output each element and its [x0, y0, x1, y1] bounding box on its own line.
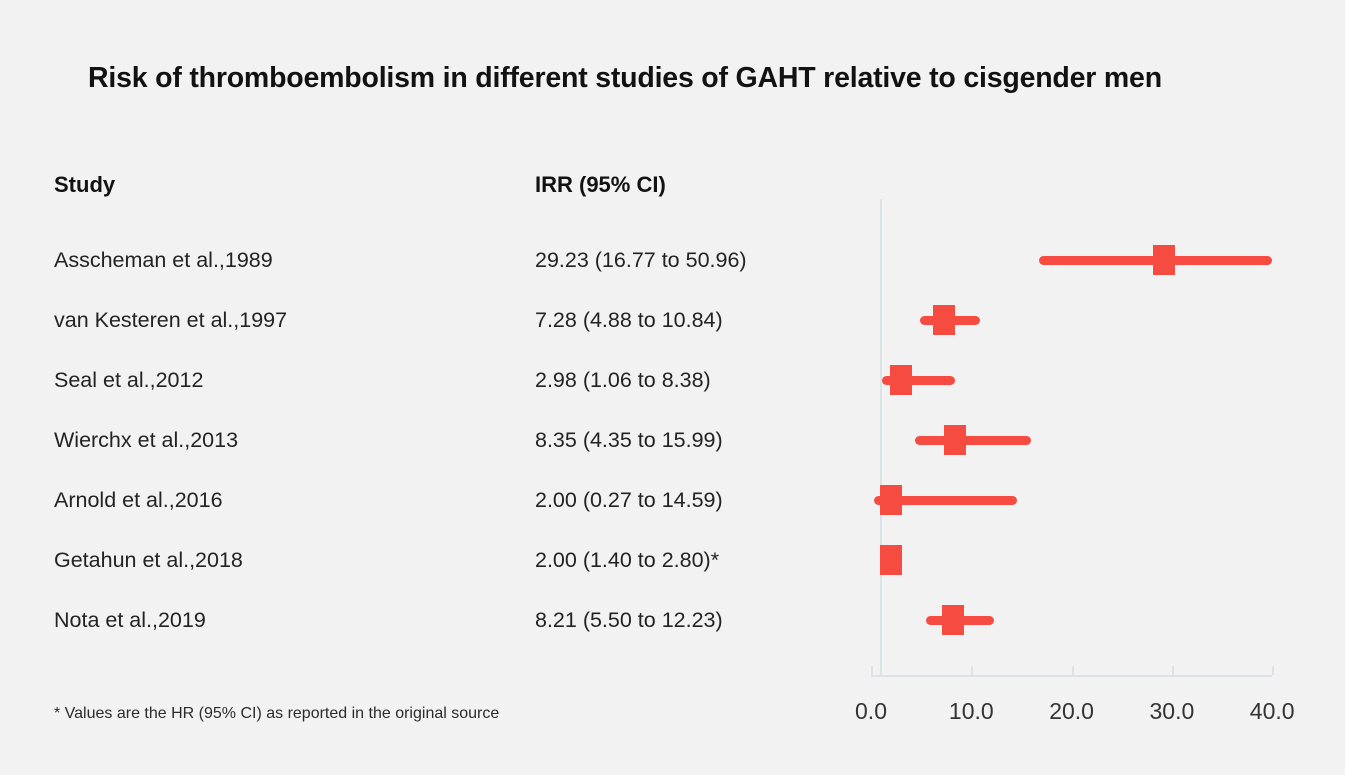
axis-end-cap — [871, 666, 873, 675]
irr-value: 8.21 (5.50 to 12.23) — [535, 590, 723, 650]
x-axis-tick — [1072, 666, 1074, 675]
x-axis-tick — [871, 666, 873, 675]
study-name: Nota et al.,2019 — [54, 590, 206, 650]
table-row: Arnold et al.,20162.00 (0.27 to 14.59) — [0, 470, 1345, 530]
irr-value: 2.98 (1.06 to 8.38) — [535, 350, 711, 410]
table-row: Seal et al.,20122.98 (1.06 to 8.38) — [0, 350, 1345, 410]
x-axis-tick-label: 30.0 — [1150, 698, 1195, 725]
irr-value: 29.23 (16.77 to 50.96) — [535, 230, 747, 290]
x-axis-line — [871, 675, 1272, 677]
study-name: Seal et al.,2012 — [54, 350, 203, 410]
study-name: Wierchx et al.,2013 — [54, 410, 238, 470]
irr-value: 7.28 (4.88 to 10.84) — [535, 290, 723, 350]
x-axis-tick-label: 10.0 — [949, 698, 994, 725]
irr-value: 8.35 (4.35 to 15.99) — [535, 410, 723, 470]
column-header-study: Study — [54, 172, 115, 198]
footnote: * Values are the HR (95% CI) as reported… — [54, 705, 499, 723]
column-header-irr: IRR (95% CI) — [535, 172, 666, 198]
study-name: Asscheman et al.,1989 — [54, 230, 273, 290]
axis-end-cap — [1272, 666, 1274, 675]
study-name: Arnold et al.,2016 — [54, 470, 223, 530]
table-row: Wierchx et al.,20138.35 (4.35 to 15.99) — [0, 410, 1345, 470]
study-name: Getahun et al.,2018 — [54, 530, 243, 590]
x-axis-tick-label: 20.0 — [1049, 698, 1094, 725]
table-row: Nota et al.,20198.21 (5.50 to 12.23) — [0, 590, 1345, 650]
study-name: van Kesteren et al.,1997 — [54, 290, 287, 350]
x-axis-tick — [1272, 666, 1274, 675]
table-row: van Kesteren et al.,19977.28 (4.88 to 10… — [0, 290, 1345, 350]
x-axis-tick — [1172, 666, 1174, 675]
irr-value: 2.00 (1.40 to 2.80)* — [535, 530, 719, 590]
table-row: Asscheman et al.,198929.23 (16.77 to 50.… — [0, 230, 1345, 290]
x-axis-tick-label: 40.0 — [1250, 698, 1295, 725]
forest-plot-figure: Risk of thromboembolism in different stu… — [0, 0, 1345, 775]
table-row: Getahun et al.,20182.00 (1.40 to 2.80)* — [0, 530, 1345, 590]
irr-value: 2.00 (0.27 to 14.59) — [535, 470, 723, 530]
x-axis-tick — [971, 666, 973, 675]
x-axis-tick-label: 0.0 — [855, 698, 887, 725]
page-title: Risk of thromboembolism in different stu… — [88, 62, 1268, 95]
